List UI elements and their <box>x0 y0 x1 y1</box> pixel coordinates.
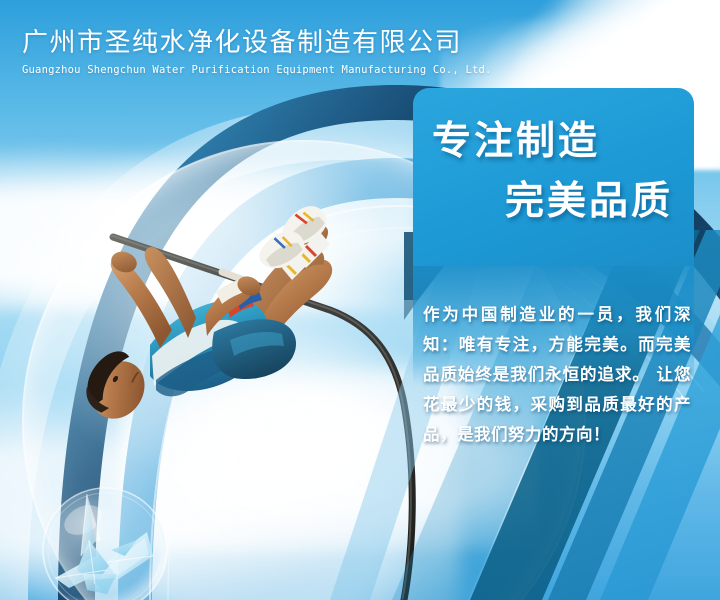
body-paragraph: 作为中国制造业的一员，我们深知：唯有专注，方能完美。而完美品质始终是我们永恒的追… <box>423 300 691 450</box>
origami-crane-bubble <box>25 470 185 600</box>
headline-line-2: 完美品质 <box>505 170 673 226</box>
body-copy-block: 作为中国制造业的一员，我们深知：唯有专注，方能完美。而完美品质始终是我们永恒的追… <box>423 300 691 450</box>
company-name-chinese: 广州市圣纯水净化设备制造有限公司 <box>22 22 492 59</box>
company-name-english: Guangzhou Shengchun Water Purification E… <box>22 64 492 76</box>
company-name-block: 广州市圣纯水净化设备制造有限公司 Guangzhou Shengchun Wat… <box>22 22 492 76</box>
headline-line-1: 专注制造 <box>432 110 600 166</box>
promo-banner: 专注制造 完美品质 作为中国制造业的一员，我们深知：唯有专注，方能完美。而完美品… <box>0 0 720 600</box>
